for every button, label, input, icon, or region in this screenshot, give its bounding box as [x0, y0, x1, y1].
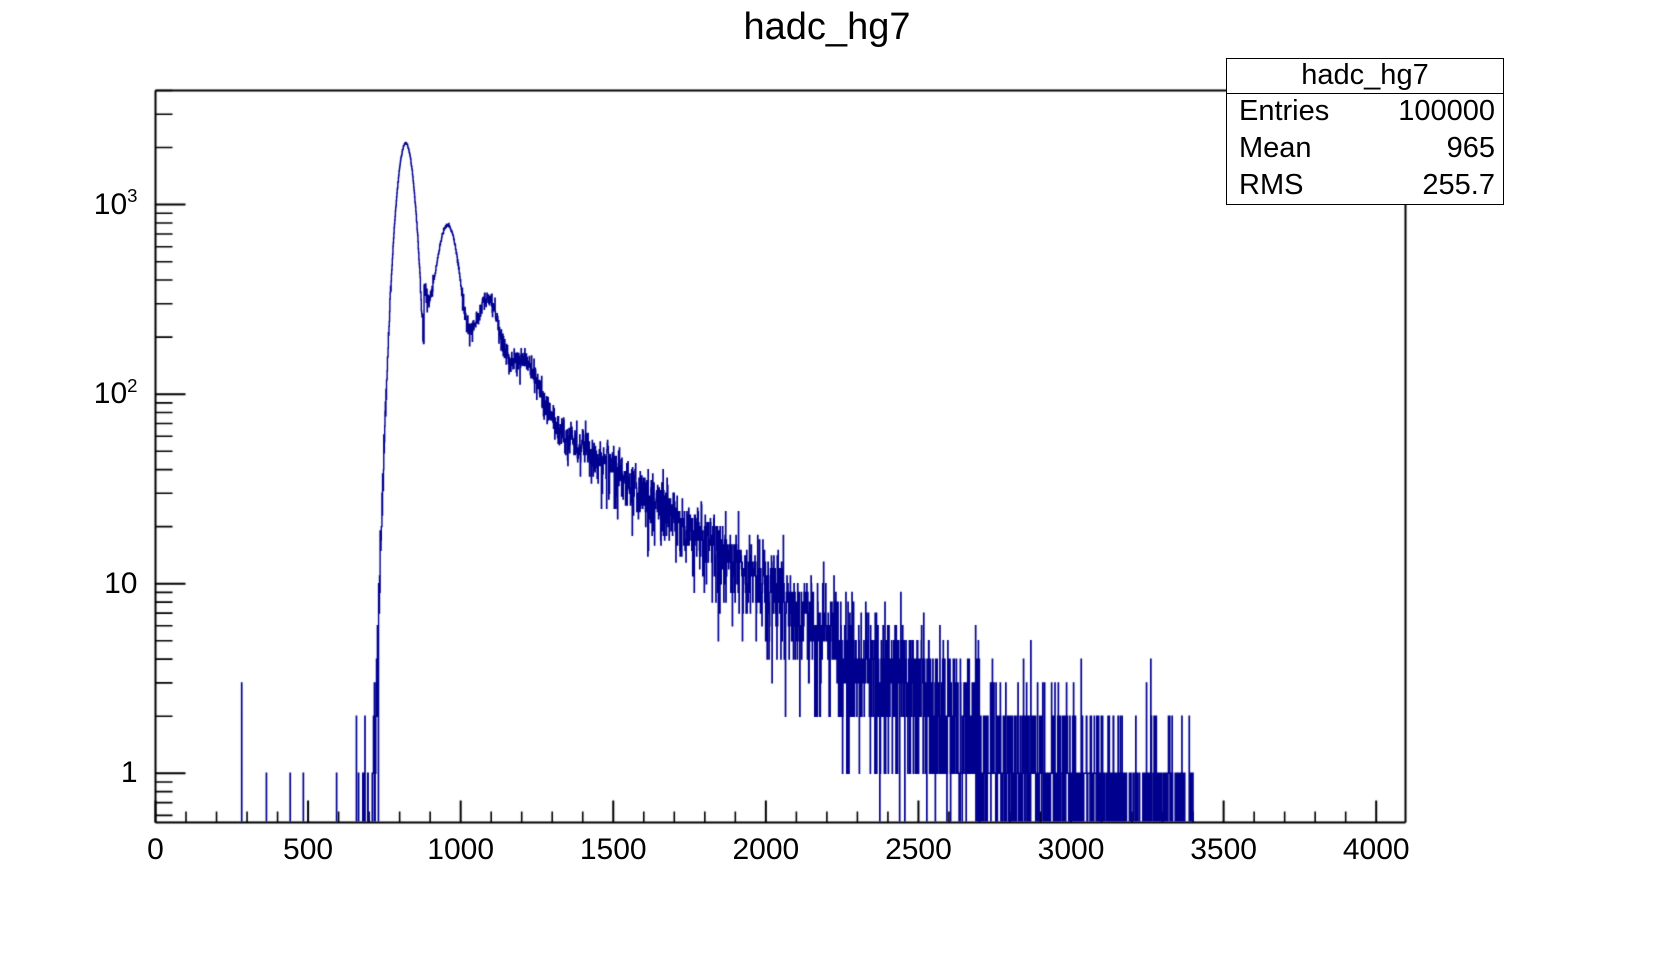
- y-tick-label: 1: [121, 756, 138, 790]
- y-tick-exponent: 3: [127, 185, 137, 206]
- stats-label-entries: Entries: [1239, 94, 1329, 130]
- x-tick-label: 500: [283, 833, 333, 867]
- y-tick-label: 10: [104, 567, 137, 601]
- y-tick-label: 102: [94, 377, 138, 411]
- stats-row-entries: Entries 100000: [1227, 94, 1503, 131]
- stats-row-mean: Mean 965: [1227, 131, 1503, 168]
- x-tick-label: 3500: [1190, 833, 1257, 867]
- stats-label-mean: Mean: [1239, 131, 1312, 167]
- stats-label-rms: RMS: [1239, 168, 1303, 204]
- stats-box-title: hadc_hg7: [1227, 59, 1503, 94]
- x-tick-label: 1000: [427, 833, 494, 867]
- x-tick-label: 2500: [885, 833, 952, 867]
- x-tick-label: 3000: [1038, 833, 1105, 867]
- y-tick-label: 103: [94, 188, 138, 222]
- stats-box: hadc_hg7 Entries 100000 Mean 965 RMS 255…: [1226, 58, 1504, 205]
- stats-row-rms: RMS 255.7: [1227, 168, 1503, 205]
- y-tick-exponent: 2: [127, 375, 137, 396]
- x-tick-label: 1500: [580, 833, 647, 867]
- stats-value-entries: 100000: [1398, 94, 1495, 130]
- stats-value-rms: 255.7: [1422, 168, 1495, 204]
- x-tick-label: 2000: [732, 833, 799, 867]
- root-canvas: hadc_hg7 hadc_hg7 Entries 100000 Mean 96…: [0, 0, 1654, 965]
- x-tick-label: 4000: [1343, 833, 1410, 867]
- x-tick-label: 0: [147, 833, 164, 867]
- stats-value-mean: 965: [1447, 131, 1495, 167]
- page-title: hadc_hg7: [0, 6, 1654, 49]
